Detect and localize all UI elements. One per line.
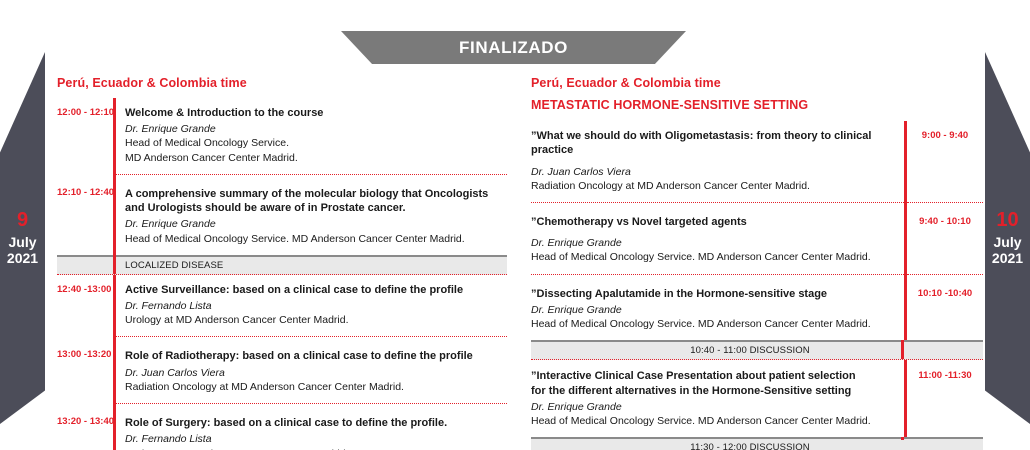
- session-title: Welcome & Introduction to the course: [125, 106, 507, 120]
- session-time: 12:40 -13:00: [57, 275, 113, 337]
- session-title: Role of Radiotherapy: based on a clinica…: [125, 349, 507, 363]
- section-band-localized-disease: LOCALIZED DISEASE: [57, 255, 507, 275]
- session-row: ”What we should do with Oligometastasis:…: [531, 121, 983, 202]
- session-body: Welcome & Introduction to the course Dr.…: [116, 98, 507, 174]
- session-time: 9:40 - 10:10: [907, 202, 983, 274]
- session-affiliation: MD Anderson Cancer Center Madrid.: [125, 151, 507, 165]
- session-affiliation: Head of Medical Oncology Service. MD And…: [125, 232, 507, 246]
- session-body: ”Interactive Clinical Case Presentation …: [531, 360, 904, 437]
- session-speaker: Dr. Fernando Lista: [125, 299, 507, 313]
- date-tab-day-9[interactable]: 9 July 2021: [0, 52, 45, 424]
- date-tab-day-number: 10: [996, 209, 1018, 233]
- session-time: 13:00 -13:20: [57, 336, 113, 403]
- date-tab-day-10[interactable]: 10 July 2021: [985, 52, 1030, 424]
- session-affiliation: Head of Medical Oncology Service.: [125, 136, 507, 150]
- date-tab-month: July: [8, 234, 36, 251]
- date-tab-year: 2021: [7, 250, 38, 267]
- session-row: 12:00 - 12:10 Welcome & Introduction to …: [57, 98, 507, 174]
- session-body: Active Surveillance: based on a clinical…: [116, 275, 507, 337]
- discussion-band: 11:30 - 12:00 DISCUSSION: [531, 437, 983, 450]
- session-body: ”Dissecting Apalutamide in the Hormone-s…: [531, 274, 904, 341]
- date-tab-year: 2021: [992, 250, 1023, 267]
- session-time: 12:00 - 12:10: [57, 98, 113, 174]
- session-row: 13:00 -13:20 Role of Radiotherapy: based…: [57, 336, 507, 403]
- session-body: ”What we should do with Oligometastasis:…: [531, 121, 904, 202]
- section-heading-metastatic: METASTATIC HORMONE-SENSITIVE SETTING: [531, 98, 983, 112]
- session-speaker: Dr. Fernando Lista: [125, 432, 507, 446]
- session-row: ”Interactive Clinical Case Presentation …: [531, 360, 983, 437]
- timezone-heading-left: Perú, Ecuador & Colombia time: [57, 76, 507, 90]
- session-speaker: Dr. Enrique Grande: [531, 236, 896, 250]
- session-affiliation: Urology at MD Anderson Cancer Center Mad…: [125, 313, 507, 327]
- date-tab-day-number: 9: [17, 209, 28, 233]
- session-body: Role of Radiotherapy: based on a clinica…: [116, 336, 507, 403]
- session-time: 13:20 - 13:40: [57, 403, 113, 450]
- session-title: for the different alternatives in the Ho…: [531, 384, 896, 398]
- session-speaker: Dr. Enrique Grande: [531, 303, 896, 317]
- session-affiliation: Head of Medical Oncology Service. MD And…: [531, 414, 896, 428]
- session-row: 12:40 -13:00 Active Surveillance: based …: [57, 275, 507, 337]
- status-banner-label: FINALIZADO: [459, 38, 568, 58]
- session-title: Role of Surgery: based on a clinical cas…: [125, 416, 507, 430]
- session-affiliation: Head of Medical Oncology Service. MD And…: [531, 250, 896, 264]
- session-speaker: Dr. Enrique Grande: [125, 122, 507, 136]
- session-title: Active Surveillance: based on a clinical…: [125, 283, 507, 297]
- session-body: ”Chemotherapy vs Novel targeted agents D…: [531, 202, 904, 274]
- session-time: 9:00 - 9:40: [907, 121, 983, 202]
- session-affiliation: Radiation Oncology at MD Anderson Cancer…: [531, 179, 896, 193]
- red-rail: [901, 437, 904, 440]
- session-body: Role of Surgery: based on a clinical cas…: [116, 403, 507, 450]
- agenda-page: FINALIZADO 9 July 2021 10 July 2021 Perú…: [0, 0, 1030, 450]
- agenda-column-day-9: Perú, Ecuador & Colombia time 12:00 - 12…: [57, 76, 507, 450]
- session-title: ”Chemotherapy vs Novel targeted agents: [531, 215, 896, 229]
- session-speaker: Dr. Enrique Grande: [531, 400, 896, 414]
- session-speaker: Dr. Juan Carlos Viera: [531, 165, 896, 179]
- section-band-label: LOCALIZED DISEASE: [57, 260, 223, 271]
- session-row: ”Chemotherapy vs Novel targeted agents D…: [531, 202, 983, 274]
- session-row: ”Dissecting Apalutamide in the Hormone-s…: [531, 274, 983, 341]
- session-title: ”Dissecting Apalutamide in the Hormone-s…: [531, 287, 896, 301]
- session-row: 12:10 - 12:40 A comprehensive summary of…: [57, 174, 507, 255]
- session-affiliation: Radiation Oncology at MD Anderson Cancer…: [125, 380, 507, 394]
- red-rail: [901, 340, 904, 359]
- timezone-heading-right: Perú, Ecuador & Colombia time: [531, 76, 983, 90]
- session-time: 11:00 -11:30: [907, 360, 983, 437]
- session-title: ”What we should do with Oligometastasis:…: [531, 129, 896, 158]
- agenda-column-day-10: Perú, Ecuador & Colombia time METASTATIC…: [531, 76, 983, 450]
- date-tab-month: July: [993, 234, 1021, 251]
- status-banner: FINALIZADO: [341, 31, 686, 64]
- session-row: 13:20 - 13:40 Role of Surgery: based on …: [57, 403, 507, 450]
- session-time: 10:10 -10:40: [907, 274, 983, 341]
- session-title: ”Interactive Clinical Case Presentation …: [531, 369, 896, 383]
- session-affiliation: Urology at MD Anderson Cancer Center Mad…: [125, 447, 507, 450]
- session-speaker: Dr. Enrique Grande: [125, 217, 507, 231]
- session-affiliation: Head of Medical Oncology Service. MD And…: [531, 317, 896, 331]
- session-title: A comprehensive summary of the molecular…: [125, 187, 507, 201]
- discussion-band: 10:40 - 11:00 DISCUSSION: [531, 340, 983, 360]
- session-speaker: Dr. Juan Carlos Viera: [125, 366, 507, 380]
- session-body: A comprehensive summary of the molecular…: [116, 174, 507, 255]
- session-time: 12:10 - 12:40: [57, 174, 113, 255]
- discussion-band-label: 10:40 - 11:00 DISCUSSION: [531, 345, 983, 356]
- session-title: and Urologists should be aware of in Pro…: [125, 201, 507, 215]
- red-rail: [113, 255, 116, 274]
- discussion-band-label: 11:30 - 12:00 DISCUSSION: [531, 442, 983, 450]
